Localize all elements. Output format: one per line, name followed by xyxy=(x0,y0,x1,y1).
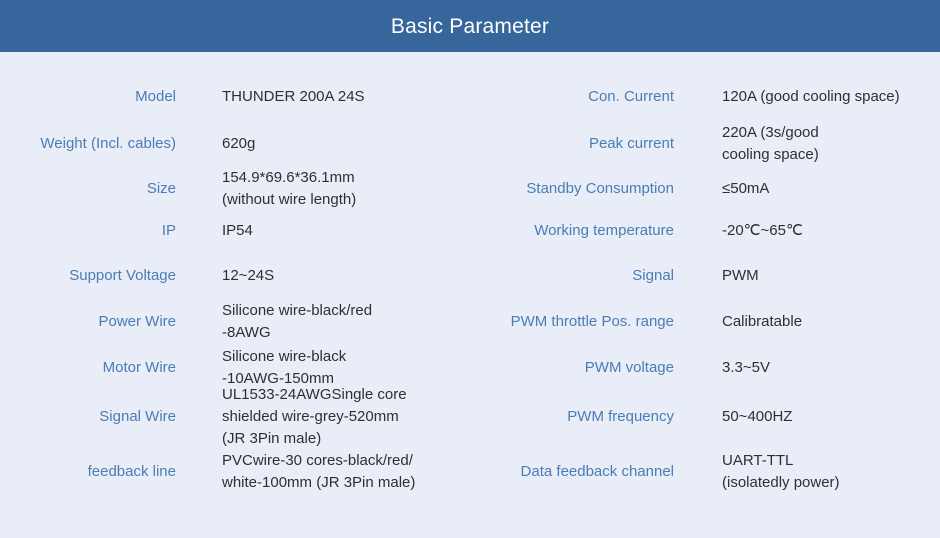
spec-row-con-current: Con. Current 120A (good cooling space) xyxy=(470,73,940,120)
spec-label-motor-wire: Motor Wire xyxy=(0,358,176,378)
spec-body: Model THUNDER 200A 24S Weight (Incl. cab… xyxy=(0,52,940,500)
spec-column-right: Con. Current 120A (good cooling space) P… xyxy=(470,73,940,500)
spec-label-feedback-line: feedback line xyxy=(0,462,176,482)
spec-value-model: THUNDER 200A 24S xyxy=(176,86,470,108)
spec-value-size: 154.9*69.6*36.1mm (without wire length) xyxy=(176,167,470,211)
spec-label-signal: Signal xyxy=(470,266,674,286)
spec-label-standby-consumption: Standby Consumption xyxy=(470,179,674,199)
spec-sheet: Basic Parameter Model THUNDER 200A 24S W… xyxy=(0,0,940,538)
spec-row-pwm-voltage: PWM voltage 3.3~5V xyxy=(470,345,940,390)
spec-row-size: Size 154.9*69.6*36.1mm (without wire len… xyxy=(0,167,470,210)
spec-label-peak-current: Peak current xyxy=(470,134,674,154)
spec-label-pwm-frequency: PWM frequency xyxy=(470,407,674,427)
title-bar: Basic Parameter xyxy=(0,0,940,52)
spec-value-pwm-voltage: 3.3~5V xyxy=(674,357,940,379)
spec-value-feedback-line: PVCwire-30 cores-black/red/ white-100mm … xyxy=(176,450,470,494)
spec-value-power-wire: Silicone wire-black/red -8AWG xyxy=(176,300,470,344)
spec-label-ip: IP xyxy=(0,221,176,241)
spec-row-feedback-line: feedback line PVCwire-30 cores-black/red… xyxy=(0,444,470,500)
spec-value-peak-current: 220A (3s/good cooling space) xyxy=(674,122,940,166)
spec-value-support-voltage: 12~24S xyxy=(176,265,470,287)
spec-value-pwm-throttle-range: Calibratable xyxy=(674,311,940,333)
spec-label-con-current: Con. Current xyxy=(470,87,674,107)
spec-row-ip: IP IP54 xyxy=(0,210,470,252)
spec-row-standby-consumption: Standby Consumption ≤50mA xyxy=(470,167,940,210)
spec-label-weight: Weight (Incl. cables) xyxy=(0,134,176,154)
spec-row-data-feedback-channel: Data feedback channel UART-TTL (isolated… xyxy=(470,444,940,500)
spec-value-data-feedback-channel: UART-TTL (isolatedly power) xyxy=(674,450,940,494)
spec-value-con-current: 120A (good cooling space) xyxy=(674,86,940,108)
spec-label-pwm-voltage: PWM voltage xyxy=(470,358,674,378)
spec-value-motor-wire: Silicone wire-black -10AWG-150mm xyxy=(176,346,470,390)
spec-value-pwm-frequency: 50~400HZ xyxy=(674,406,940,428)
spec-label-size: Size xyxy=(0,179,176,199)
spec-row-support-voltage: Support Voltage 12~24S xyxy=(0,252,470,299)
spec-row-weight: Weight (Incl. cables) 620g xyxy=(0,120,470,167)
page-title: Basic Parameter xyxy=(391,16,549,37)
spec-column-left: Model THUNDER 200A 24S Weight (Incl. cab… xyxy=(0,73,470,500)
spec-label-data-feedback-channel: Data feedback channel xyxy=(470,462,674,482)
spec-row-signal-wire: Signal Wire UL1533-24AWGSingle core shie… xyxy=(0,390,470,444)
spec-label-working-temperature: Working temperature xyxy=(470,221,674,241)
spec-value-signal: PWM xyxy=(674,265,940,287)
spec-label-model: Model xyxy=(0,87,176,107)
spec-row-pwm-throttle-range: PWM throttle Pos. range Calibratable xyxy=(470,299,940,345)
spec-value-weight: 620g xyxy=(176,133,470,155)
spec-row-working-temperature: Working temperature -20℃~65℃ xyxy=(470,210,940,252)
spec-label-support-voltage: Support Voltage xyxy=(0,266,176,286)
spec-value-signal-wire: UL1533-24AWGSingle core shielded wire-gr… xyxy=(176,384,470,450)
spec-label-signal-wire: Signal Wire xyxy=(0,407,176,427)
spec-row-pwm-frequency: PWM frequency 50~400HZ xyxy=(470,390,940,444)
spec-row-model: Model THUNDER 200A 24S xyxy=(0,73,470,120)
spec-label-power-wire: Power Wire xyxy=(0,312,176,332)
spec-value-working-temperature: -20℃~65℃ xyxy=(674,220,940,242)
spec-label-pwm-throttle-range: PWM throttle Pos. range xyxy=(470,312,674,332)
spec-row-peak-current: Peak current 220A (3s/good cooling space… xyxy=(470,120,940,167)
spec-row-power-wire: Power Wire Silicone wire-black/red -8AWG xyxy=(0,299,470,345)
spec-value-ip: IP54 xyxy=(176,220,470,242)
spec-value-standby-consumption: ≤50mA xyxy=(674,178,940,200)
spec-row-signal: Signal PWM xyxy=(470,252,940,299)
